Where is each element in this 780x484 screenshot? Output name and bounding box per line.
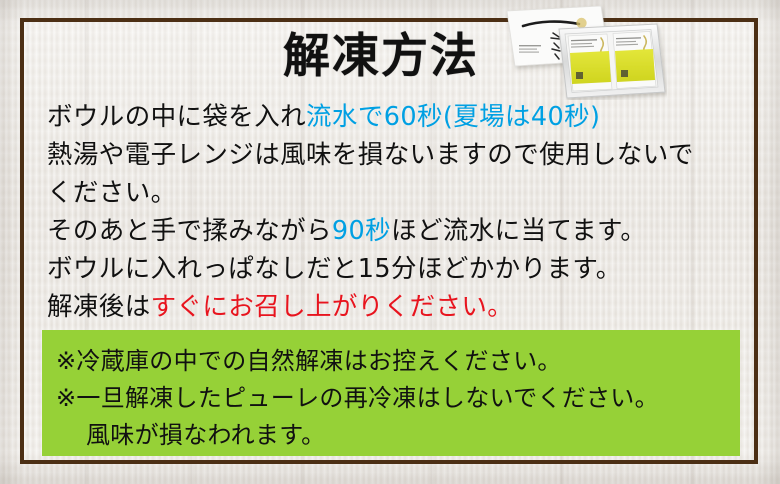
frozen-puree-gift-box-photo xyxy=(497,2,667,100)
instruction-line-2: 熱湯や電子レンジは風味を損ないますので使用しないで xyxy=(47,136,717,174)
warning-notice-box: ※冷蔵庫の中での自然解凍はお控えください。 ※一旦解凍したピューレの再冷凍はしな… xyxy=(42,330,740,456)
notice-line-2: ※一旦解凍したピューレの再冷凍はしないでください。 xyxy=(56,380,740,417)
instruction-line-1-highlight: 流水で60秒(夏場は40秒) xyxy=(306,102,600,132)
notice-line-3: 風味が損なわれます。 xyxy=(56,417,740,454)
instruction-line-1: ボウルの中に袋を入れ流水で60秒(夏場は40秒) xyxy=(47,98,717,136)
instruction-line-3: ください。 xyxy=(47,174,717,212)
instruction-line-6-black: 解凍後は xyxy=(47,292,151,322)
background-shadow-left xyxy=(0,0,22,484)
puree-pouch-right xyxy=(613,32,656,89)
instruction-line-1-black: ボウルの中に袋を入れ xyxy=(47,102,306,132)
thawing-instructions-page: 解凍方法 xyxy=(0,0,780,484)
page-title: 解凍方法 xyxy=(283,33,479,80)
instruction-line-4-black-b: ほど流水に当てます。 xyxy=(391,216,646,246)
instruction-line-5: ボウルに入れっぱなしだと15分ほどかかります。 xyxy=(47,250,717,288)
puree-pouch-tray xyxy=(559,24,665,98)
background-shadow-right xyxy=(758,0,780,484)
instruction-line-4-highlight: 90秒 xyxy=(332,216,391,246)
instruction-line-6: 解凍後はすぐにお召し上がりください。 xyxy=(47,288,717,326)
notice-line-1: ※冷蔵庫の中での自然解凍はお控えください。 xyxy=(56,343,740,380)
instruction-line-6-emphasis: すぐにお召し上がりください。 xyxy=(151,292,514,322)
instruction-line-4-black-a: そのあと手で揉みながら xyxy=(47,216,332,246)
instruction-text-block: ボウルの中に袋を入れ流水で60秒(夏場は40秒) 熱湯や電子レンジは風味を損ない… xyxy=(47,98,717,326)
puree-pouch-left xyxy=(568,34,612,91)
instruction-line-4: そのあと手で揉みながら90秒ほど流水に当てます。 xyxy=(47,212,717,250)
